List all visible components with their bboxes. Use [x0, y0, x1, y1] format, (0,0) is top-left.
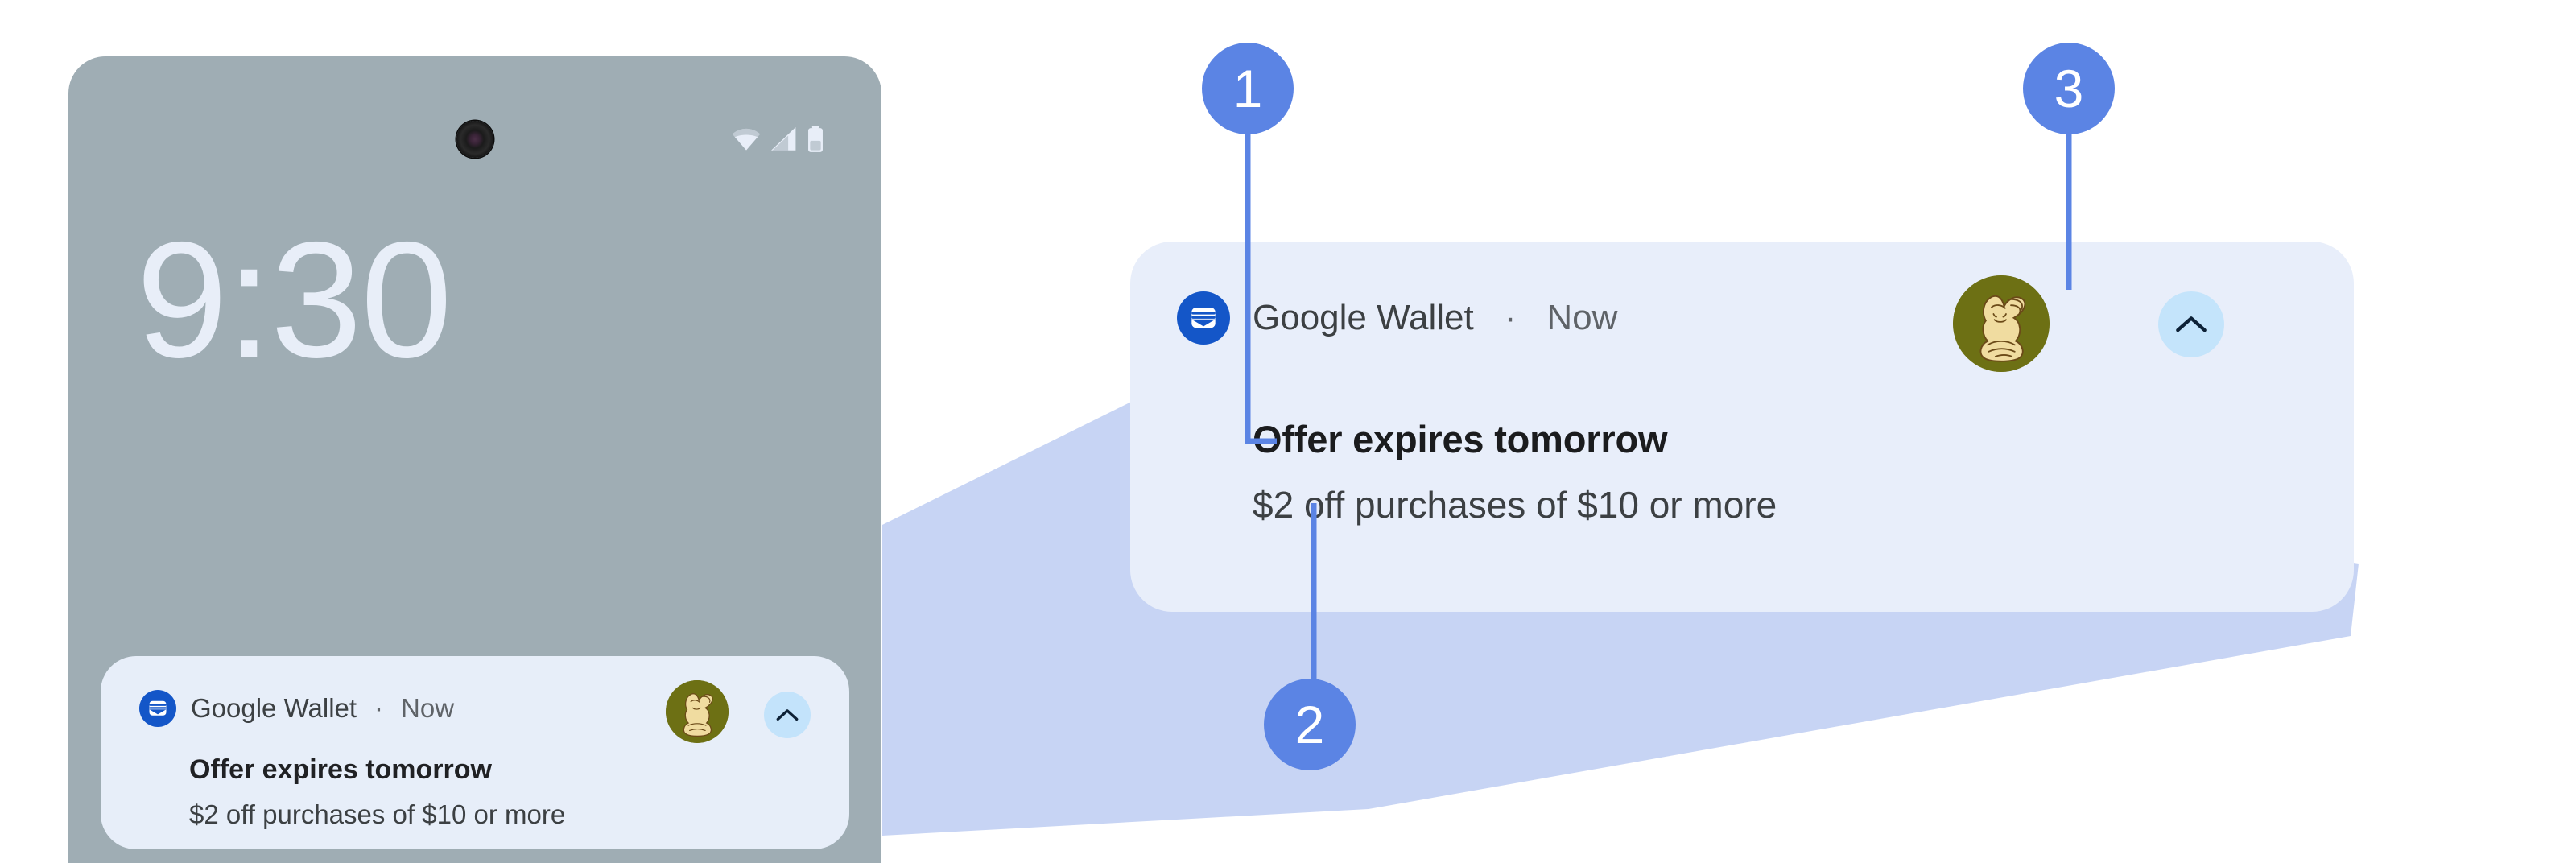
- status-icon-group: [730, 126, 825, 153]
- callout-badge-1: 1: [1202, 43, 1294, 134]
- detail-notification-expand-button[interactable]: [2158, 291, 2224, 357]
- callout-badge-1-number: 1: [1202, 43, 1294, 134]
- chevron-up-icon: [776, 708, 799, 722]
- phone-notification-header: Google Wallet · Now: [139, 690, 454, 727]
- lock-screen-clock: 9:30: [136, 217, 451, 382]
- phone-notification-app-name: Google Wallet: [191, 693, 357, 724]
- phone-mockup: 9:30 Google Wallet · Now Offer expires t…: [68, 56, 881, 863]
- detail-notification-timestamp: Now: [1546, 298, 1617, 338]
- detail-notification-separator: ·: [1505, 298, 1517, 338]
- merchant-siren-avatar: [666, 680, 729, 743]
- phone-status-bar: [68, 56, 881, 185]
- callout-badge-3-number: 3: [2023, 43, 2115, 134]
- chevron-up-icon: [2175, 315, 2207, 334]
- screenshot-stage: 9:30 Google Wallet · Now Offer expires t…: [0, 0, 2576, 863]
- callout-badge-2: 2: [1264, 679, 1356, 770]
- phone-notification-card[interactable]: Google Wallet · Now Offer expires tomorr…: [101, 656, 849, 849]
- detail-notification-header: Google Wallet · Now: [1177, 291, 1617, 345]
- front-camera-lens-icon: [456, 121, 493, 158]
- merchant-siren-avatar: [1953, 275, 2050, 372]
- detail-notification-body: $2 off purchases of $10 or more: [1253, 483, 1777, 526]
- google-wallet-icon: [139, 690, 176, 727]
- detail-notification-app-name: Google Wallet: [1253, 298, 1474, 338]
- detail-notification-title: Offer expires tomorrow: [1253, 417, 1667, 461]
- phone-notification-separator: ·: [374, 693, 383, 724]
- phone-notification-body: $2 off purchases of $10 or more: [189, 799, 565, 830]
- callout-badge-2-number: 2: [1264, 679, 1356, 770]
- detail-notification-card[interactable]: Google Wallet · Now Offer expires tomorr…: [1130, 242, 2354, 612]
- cellular-signal-icon: [770, 126, 799, 152]
- phone-notification-expand-button[interactable]: [764, 692, 811, 738]
- wifi-icon: [730, 126, 762, 152]
- battery-icon: [806, 126, 825, 153]
- callout-badge-3: 3: [2023, 43, 2115, 134]
- phone-notification-title: Offer expires tomorrow: [189, 754, 492, 786]
- google-wallet-icon: [1177, 291, 1230, 345]
- phone-notification-timestamp: Now: [401, 693, 454, 724]
